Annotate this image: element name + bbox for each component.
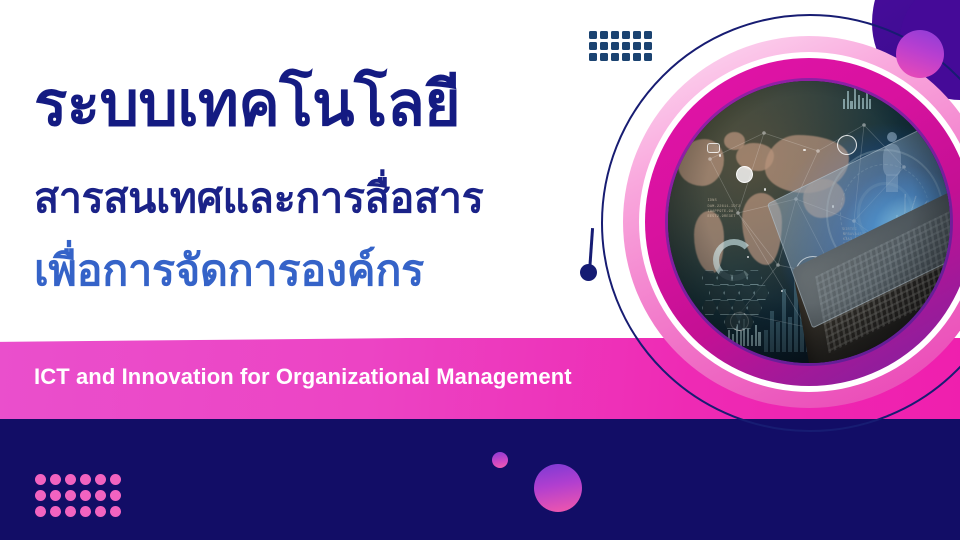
dot-grid-pink	[35, 474, 125, 522]
dot	[622, 42, 630, 50]
dot	[110, 506, 121, 517]
dot	[611, 42, 619, 50]
dot	[622, 53, 630, 61]
dot	[611, 53, 619, 61]
dot	[50, 506, 61, 517]
bubble-bottom-small	[492, 452, 508, 468]
dot	[600, 53, 608, 61]
dot	[633, 42, 641, 50]
subtitle-text: ICT and Innovation for Organizational Ma…	[34, 364, 572, 390]
dot	[600, 42, 608, 50]
dot	[589, 31, 597, 39]
dot	[80, 474, 91, 485]
dot	[589, 53, 597, 61]
title-line-1: ระบบเทคโนโลยี	[34, 74, 460, 136]
dot	[644, 53, 652, 61]
dot	[633, 31, 641, 39]
dot	[80, 490, 91, 501]
bubble-top-right	[896, 30, 944, 78]
dot	[95, 474, 106, 485]
dot	[611, 31, 619, 39]
slide-canvas: IDNS DAM.22611-IDT2 IAAPP9TE-9A EE5T2-9R…	[0, 0, 960, 540]
dot-grid-navy	[589, 31, 655, 64]
dot	[110, 490, 121, 501]
dot	[80, 506, 91, 517]
title-line-3: เพื่อการจัดการองค์กร	[34, 250, 424, 293]
dot	[65, 474, 76, 485]
navy-background-panel	[0, 419, 960, 540]
dot	[633, 53, 641, 61]
bubble-bottom-large	[534, 464, 582, 512]
dot	[589, 42, 597, 50]
title-line-2: สารสนเทศและการสื่อสาร	[34, 178, 484, 219]
dot	[35, 490, 46, 501]
dot	[644, 31, 652, 39]
dot	[622, 31, 630, 39]
navy-pin-dot	[580, 264, 597, 281]
dot	[95, 506, 106, 517]
dot	[50, 474, 61, 485]
dot	[35, 474, 46, 485]
dot	[110, 474, 121, 485]
dot	[65, 506, 76, 517]
dot	[50, 490, 61, 501]
dot	[35, 506, 46, 517]
dot	[65, 490, 76, 501]
dot	[600, 31, 608, 39]
dot	[95, 490, 106, 501]
dot	[644, 42, 652, 50]
